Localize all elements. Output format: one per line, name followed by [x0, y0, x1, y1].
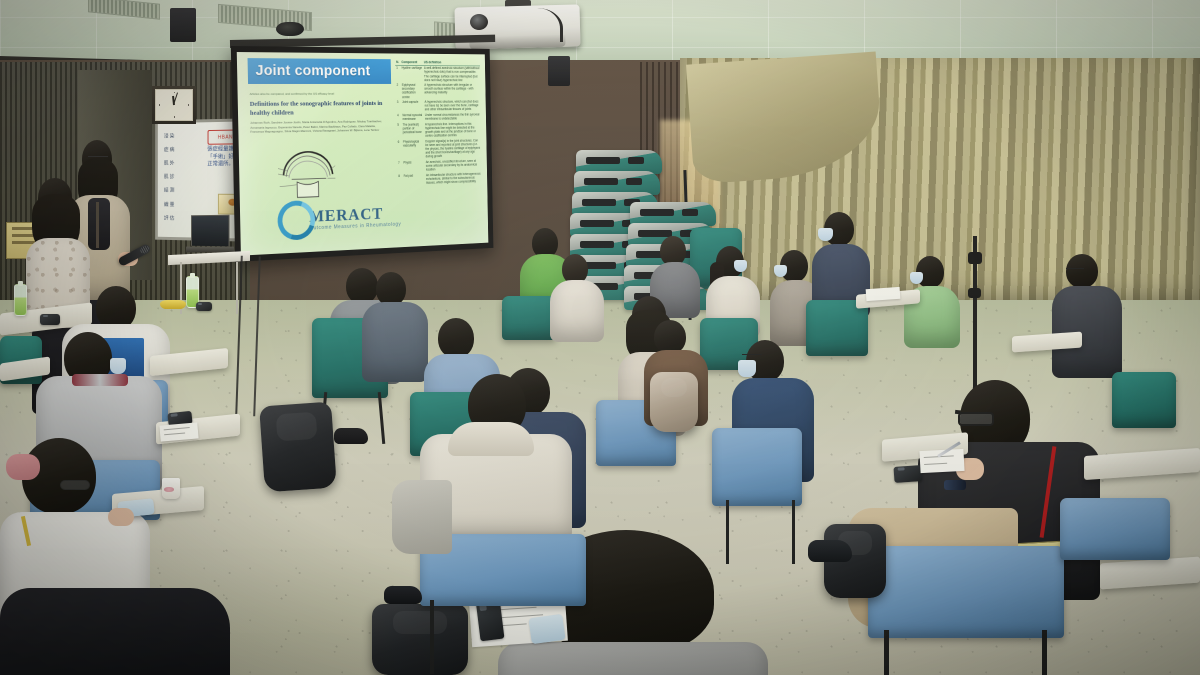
backpack — [372, 604, 468, 675]
row-component: Fat pad — [403, 172, 426, 186]
lecture-room-photo: 浸 染 症 病 肌 外 肌 診 結 測 織 量 評 估 HBAND 張症經量護 … — [0, 0, 1200, 675]
attendee-glasses-icon — [60, 480, 90, 490]
chair[interactable] — [868, 546, 1064, 638]
row-component: Joint capsule — [401, 99, 424, 112]
whiteboard-chinese-column: 肌 外 — [164, 162, 174, 168]
table-row: 1Hyaline cartilageA well-defined anechoi… — [395, 65, 480, 83]
water-bottle — [14, 284, 27, 316]
chair[interactable] — [1060, 498, 1170, 560]
row-component: The (earliest) portion of periosteal bon… — [402, 122, 425, 139]
smartphone — [196, 302, 212, 311]
row-definition: A hyperechoic line. Interruptions in thi… — [424, 121, 482, 139]
row-definition: Doppler signal(s) in the joint structure… — [424, 138, 482, 160]
hair-scrunchie — [6, 454, 40, 480]
whiteboard-chinese-column: 症 病 — [164, 148, 174, 154]
whiteboard-chinese-column: 浸 染 — [164, 134, 174, 140]
row-definition: An intraarticular structure with heterog… — [425, 171, 483, 186]
whiteboard-chinese-column: 結 測 — [164, 189, 174, 195]
attendee-glasses-icon — [1066, 268, 1084, 273]
chair-leg — [884, 630, 889, 675]
backpack — [259, 402, 337, 493]
projection-screen: Joint component Articles also be compare… — [231, 46, 494, 262]
attendee-glasses-icon — [958, 412, 994, 426]
whiteboard-chinese-column: 肌 診 — [164, 175, 174, 181]
face-mask — [818, 228, 833, 241]
attendee-head — [654, 320, 686, 354]
row-definition: A hyperechoic structure with irregular o… — [423, 83, 481, 100]
attendee-head — [376, 272, 406, 306]
table-row: 5The (earliest) portion of periosteal bo… — [396, 121, 481, 139]
handout-paper — [159, 422, 198, 441]
shoe — [334, 428, 368, 444]
slide-journal-line: Articles also be compared, and confirmed… — [250, 91, 388, 96]
lanyard — [96, 202, 99, 248]
attendee-glasses-icon — [742, 354, 762, 360]
shoe — [384, 586, 422, 604]
joint-anatomy-diagram — [263, 142, 351, 200]
slide-title-bar: Joint component — [248, 58, 391, 83]
wall-speaker-icon — [170, 8, 196, 42]
chair-leg — [792, 500, 795, 564]
attendee-top — [498, 642, 768, 675]
attendee-dark-coat — [0, 588, 230, 675]
clock-minute-hand — [173, 92, 178, 105]
omeract-logo: MERACT Outcome Measures in Rheumatology — [277, 197, 408, 241]
ceiling-speaker — [276, 22, 304, 36]
chair[interactable] — [712, 428, 802, 506]
attendee-top — [362, 302, 428, 382]
face-mask — [528, 614, 565, 644]
row-component: Hyaline cartilage — [401, 65, 424, 83]
face-mask — [738, 360, 756, 377]
presentation-slide: Joint component Articles also be compare… — [237, 52, 489, 256]
presenter-inner-top — [88, 198, 110, 250]
clock-face — [155, 89, 193, 121]
whiteboard-chinese-column: 織 量 — [164, 203, 174, 209]
slide-author-list: Johannes Roth, Sandrine Jousse-Joulin, M… — [250, 120, 388, 135]
chair-leg — [1042, 630, 1047, 675]
row-component: Physiological vascularity — [402, 139, 425, 160]
attendee-pants — [392, 480, 452, 554]
attendee-head — [438, 318, 474, 358]
table-row: 2Epiphyseal secondary ossification centr… — [396, 83, 481, 100]
paper-cup — [162, 478, 180, 499]
hoodie-hood — [448, 422, 534, 456]
row-definition: A well-defined anechoic structure (with/… — [423, 65, 481, 82]
table-row: 6Physiological vascularityDoppler signal… — [397, 138, 482, 160]
stand-adjuster-knob[interactable] — [968, 252, 982, 264]
bananas — [160, 300, 186, 309]
wall-speaker-icon — [548, 56, 570, 86]
chair-leg — [726, 500, 729, 564]
handout-paper — [866, 287, 901, 301]
chair[interactable] — [1112, 372, 1176, 428]
shoe — [808, 540, 852, 562]
presenter-laptop-screen — [191, 215, 229, 246]
attendee-top — [550, 280, 604, 342]
row-component: Physis — [402, 159, 425, 173]
row-definition: A hyperechoic structure, which can (but … — [424, 99, 482, 112]
row-component: Epiphyseal secondary ossification centre — [401, 83, 424, 100]
slide-subtitle: Definitions for the sonographic features… — [250, 100, 388, 118]
polo-collar — [72, 374, 128, 386]
attendee-head — [346, 268, 378, 304]
projector-lens-icon — [470, 14, 488, 30]
row-component: Normal synovial membrane — [401, 113, 424, 122]
table-row: 8Fat padAn intraarticular structure with… — [397, 171, 482, 187]
whiteboard-chinese-column: 評 估 — [164, 216, 174, 222]
table-row: 3Joint capsuleA hyperechoic structure, w… — [396, 99, 481, 113]
stand-adjuster-knob[interactable] — [968, 288, 981, 298]
wall-clock — [152, 86, 196, 124]
backpack — [650, 372, 698, 432]
chair[interactable] — [502, 296, 556, 340]
attendee-hand — [108, 508, 134, 526]
wristwatch — [944, 480, 966, 490]
smartphone — [40, 314, 60, 325]
slide-definition-table: N. Component US definition 1Hyaline cart… — [395, 59, 483, 239]
smartphone — [893, 465, 922, 483]
omeract-ring-icon — [271, 194, 321, 247]
face-mask — [110, 358, 126, 374]
chair-leg — [430, 600, 434, 674]
slide-title: Joint component — [248, 62, 371, 79]
